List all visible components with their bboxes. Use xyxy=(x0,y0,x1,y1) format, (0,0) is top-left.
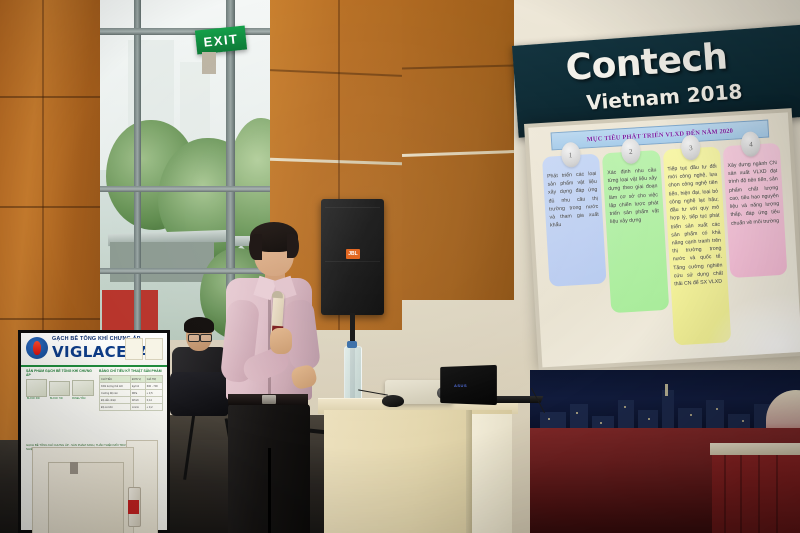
block-label-1: BLOCK 600 xyxy=(27,397,40,400)
block-label-3: PANEL/TẤM xyxy=(72,397,85,400)
table-cell: mm/m xyxy=(130,404,145,411)
block-sample-3 xyxy=(72,380,94,396)
viglacera-left-caption: SẢN PHẨM GẠCH BÊ TÔNG KHÍ CHƯNG ÁP xyxy=(26,369,92,377)
technician-glasses-left xyxy=(188,334,200,342)
viglacera-right-caption: BẢNG CHỈ TIÊU KỸ THUẬT SẢN PHẨM xyxy=(99,369,163,373)
slide-column-1: 1 Phát triển các loại sản phẩm vật liệu … xyxy=(542,154,607,287)
presenter-belt-buckle xyxy=(262,395,276,404)
table-cell: W/mK xyxy=(130,397,145,404)
panel-bracket xyxy=(70,462,78,474)
slide-column-4: 4 Xây dựng ngành CN sản xuất VLXD đạt tr… xyxy=(722,143,787,278)
table-header-cell: CHỈ TIÊU xyxy=(100,376,131,383)
table-header-cell: ĐƠN VỊ xyxy=(130,376,145,383)
sample-panel-small xyxy=(48,462,124,533)
table-cell: Độ co khô xyxy=(100,404,131,411)
presenter-hair-side-left xyxy=(249,234,262,260)
table-cell: kg/m3 xyxy=(130,383,145,390)
table-cell: 0,14 xyxy=(145,397,162,404)
flame-icon xyxy=(33,341,41,355)
slide-columns: 1 Phát triển các loại sản phẩm vật liệu … xyxy=(542,143,791,357)
presenter-hand-holding-mic xyxy=(270,328,292,354)
block-label-2: BLOCK 700 xyxy=(50,397,63,400)
viglacera-header: GẠCH BÊ TÔNG KHÍ CHƯNG ÁP VIGLACERA xyxy=(21,333,167,367)
projection-screen: MỤC TIÊU PHÁT TRIỂN VLXD ĐẾN NĂM 2020 1 … xyxy=(524,108,800,371)
water-bottle: Lavie xyxy=(344,346,362,404)
window-transom-low xyxy=(98,268,274,274)
technician-hair xyxy=(184,317,214,333)
draped-table xyxy=(712,450,800,533)
shed-outside xyxy=(110,242,214,282)
slide-column-1-text: Phát triển các loại sản phẩm vật liệu xâ… xyxy=(547,170,600,230)
podium-side-panel xyxy=(472,414,512,533)
draped-table-top xyxy=(710,443,800,455)
slide-column-2-text: Xác định nhu cầu từng loại vật liệu xây … xyxy=(607,166,660,226)
viglacera-spec-section: BẢNG CHỈ TIÊU KỸ THUẬT SẢN PHẨM CHỈ TIÊU… xyxy=(99,369,163,411)
certification-mark-2 xyxy=(145,338,163,360)
equipment-case xyxy=(170,372,230,416)
table-cell: ≥ 3,5 xyxy=(145,390,162,397)
table-row: Độ co khô mm/m ≤ 0,2 xyxy=(100,404,163,411)
block-sample-1 xyxy=(26,379,47,397)
window-mullion-1 xyxy=(134,0,141,340)
table-row: Cường độ nén MPa ≥ 3,5 xyxy=(100,390,163,397)
jbl-logo-icon: JBL xyxy=(346,249,360,259)
slide-column-3: 3 Tiếp tục đầu tư đổi mới công nghệ, lựa… xyxy=(662,146,731,345)
laptop-screen xyxy=(440,365,497,405)
table-cell: ≤ 0,2 xyxy=(145,404,162,411)
presenter-hair-side-right xyxy=(287,234,299,258)
water-bottle-cap xyxy=(347,341,357,348)
viglacera-products-section: SẢN PHẨM GẠCH BÊ TÔNG KHÍ CHƯNG ÁP BLOCK… xyxy=(26,369,92,409)
table-cell: MPa xyxy=(130,390,145,397)
table-row: Khối lượng thể tích kg/m3 600 - 700 xyxy=(100,383,163,390)
technician-glasses-right xyxy=(200,334,212,342)
table-cell: Độ dẫn nhiệt xyxy=(100,397,131,404)
table-cell: 600 - 700 xyxy=(145,383,162,390)
slide-title-text: MỤC TIÊU PHÁT TRIỂN VLXD ĐẾN NĂM 2020 xyxy=(586,127,733,143)
slide-column-2: 2 Xác định nhu cầu từng loại vật liệu xâ… xyxy=(602,150,669,313)
spray-can-label xyxy=(128,500,139,514)
slide-column-4-text: Xây dựng ngành CN sản xuất VLXD đạt trìn… xyxy=(727,159,780,228)
wood-wall-right xyxy=(402,0,514,300)
block-sample-2 xyxy=(49,381,70,396)
certification-mark-1 xyxy=(125,338,143,360)
skyline-backdrop xyxy=(530,370,800,434)
table-row: Độ dẫn nhiệt W/mK 0,14 xyxy=(100,397,163,404)
jbl-speaker: JBL xyxy=(321,199,384,315)
window-transom-mid xyxy=(98,186,274,192)
asus-logo-icon: ASUS xyxy=(454,383,467,388)
table-header-row: CHỈ TIÊU ĐƠN VỊ GIÁ TRỊ xyxy=(100,376,163,383)
table-cell: Khối lượng thể tích xyxy=(100,383,131,390)
slide-column-3-text: Tiếp tục đầu tư đổi mới công nghệ, lựa c… xyxy=(667,163,723,289)
exit-sign-mount xyxy=(202,52,216,74)
window-transom-top xyxy=(98,28,274,35)
spec-table: CHỈ TIÊU ĐƠN VỊ GIÁ TRỊ Khối lượng thể t… xyxy=(99,375,163,411)
exit-sign-label: EXIT xyxy=(203,31,239,50)
table-header-cell: GIÁ TRỊ xyxy=(145,376,162,383)
conference-room-photo: EXIT Contech Vietnam 2018 MỤC TIÊU PHÁT … xyxy=(0,0,800,533)
computer-mouse xyxy=(382,395,404,407)
microphone-head xyxy=(272,291,283,299)
presenter-leg-split xyxy=(268,448,271,533)
slide-surface: MỤC TIÊU PHÁT TRIỂN VLXD ĐẾN NĂM 2020 1 … xyxy=(528,112,800,367)
table-cell: Cường độ nén xyxy=(100,390,131,397)
